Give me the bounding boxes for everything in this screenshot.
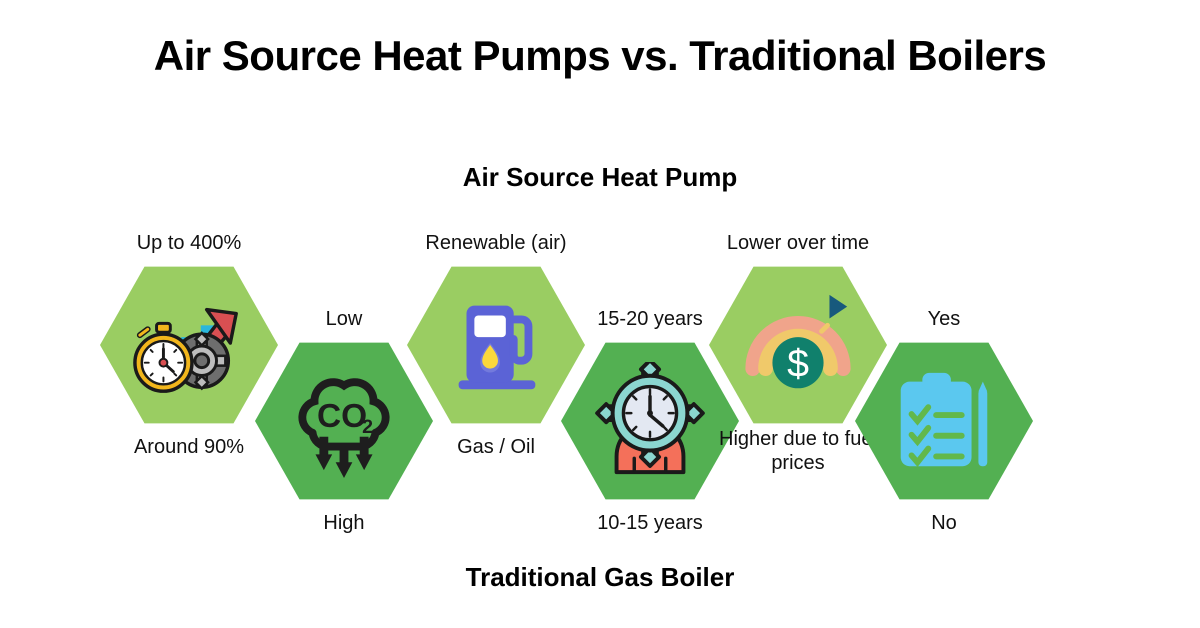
hexagon-running-cost: $ — [709, 265, 887, 425]
gas-boiler-section-label: Traditional Gas Boiler — [0, 562, 1200, 593]
hexagon-grant-eligible — [855, 341, 1033, 501]
svg-text:$: $ — [787, 341, 809, 385]
co2-cloud-icon: CO 2 — [285, 362, 403, 480]
efficiency-heat-pump-value: Up to 400% — [100, 232, 278, 256]
hexagon-efficiency — [100, 265, 278, 425]
efficiency-stopwatch-gear-chart-icon — [130, 286, 248, 404]
svg-text:CO: CO — [317, 398, 367, 435]
grant-eligible-heat-pump-value: Yes — [855, 308, 1033, 332]
svg-text:2: 2 — [362, 416, 373, 438]
hexagon-comparison-row: Up to 400% — [0, 0, 1200, 628]
fuel-pump-icon — [437, 286, 555, 404]
lifespan-boiler-value: 10-15 years — [561, 512, 739, 536]
emissions-boiler-value: High — [255, 512, 433, 536]
person-clock-gear-icon — [591, 362, 709, 480]
hexagon-fuel-source — [407, 265, 585, 425]
efficiency-boiler-value: Around 90% — [100, 436, 278, 460]
hexagon-emissions: CO 2 — [255, 341, 433, 501]
hexagon-lifespan — [561, 341, 739, 501]
fuel-source-boiler-value: Gas / Oil — [407, 436, 585, 460]
clipboard-checklist-icon — [885, 362, 1003, 480]
lifespan-heat-pump-value: 15-20 years — [561, 308, 739, 332]
emissions-heat-pump-value: Low — [255, 308, 433, 332]
grant-eligible-boiler-value: No — [855, 512, 1033, 536]
running-cost-heat-pump-value: Lower over time — [709, 232, 887, 256]
dollar-gauge-icon: $ — [739, 286, 857, 404]
infographic-canvas: Air Source Heat Pumps vs. Traditional Bo… — [0, 0, 1200, 628]
fuel-source-heat-pump-value: Renewable (air) — [407, 232, 585, 256]
